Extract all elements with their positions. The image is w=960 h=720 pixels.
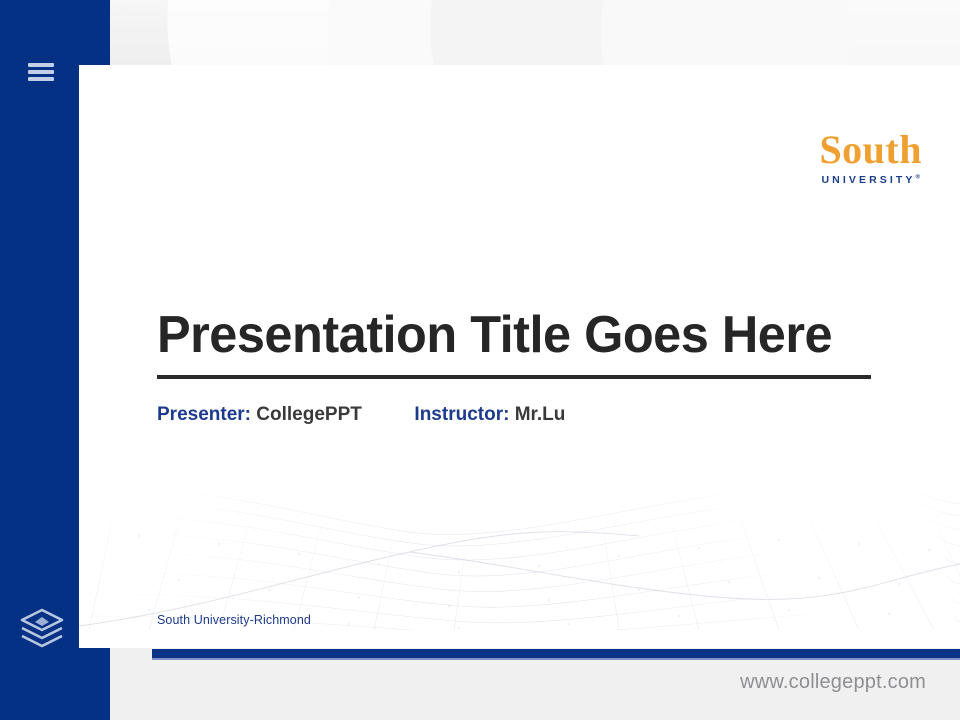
title-divider xyxy=(157,375,871,379)
slide-accent-bar xyxy=(152,649,960,660)
slide-canvas: South UNIVERSITY® Presentation Title Goe… xyxy=(79,65,960,648)
presenter-value: CollegePPT xyxy=(256,404,362,425)
south-university-logo: South UNIVERSITY® xyxy=(819,130,922,186)
hamburger-bar xyxy=(28,77,54,81)
logo-trademark: ® xyxy=(916,175,920,181)
stacked-layers-icon[interactable] xyxy=(16,602,68,654)
hamburger-icon[interactable] xyxy=(28,61,54,83)
hamburger-bar xyxy=(28,70,54,74)
page-title: Presentation Title Goes Here xyxy=(157,307,850,363)
slide-footer-text: South University-Richmond xyxy=(157,613,311,627)
background-swoop-shape xyxy=(561,0,960,66)
logo-subtitle: UNIVERSITY® xyxy=(819,174,922,186)
instructor-label: Instructor: xyxy=(414,404,509,425)
byline: Presenter: CollegePPT Instructor: Mr.Lu xyxy=(157,405,565,424)
title-block: Presentation Title Goes Here xyxy=(157,307,871,379)
presentation-slide-viewer: South UNIVERSITY® Presentation Title Goe… xyxy=(0,0,960,720)
logo-subtitle-text: UNIVERSITY xyxy=(822,174,916,186)
background-top-band xyxy=(0,0,960,66)
wireframe-mesh-graphic xyxy=(79,440,960,630)
hamburger-bar xyxy=(28,63,54,67)
watermark-url: www.collegeppt.com xyxy=(740,671,926,694)
logo-wordmark: South xyxy=(819,130,922,170)
instructor-value: Mr.Lu xyxy=(515,404,566,425)
presenter-label: Presenter: xyxy=(157,404,251,425)
